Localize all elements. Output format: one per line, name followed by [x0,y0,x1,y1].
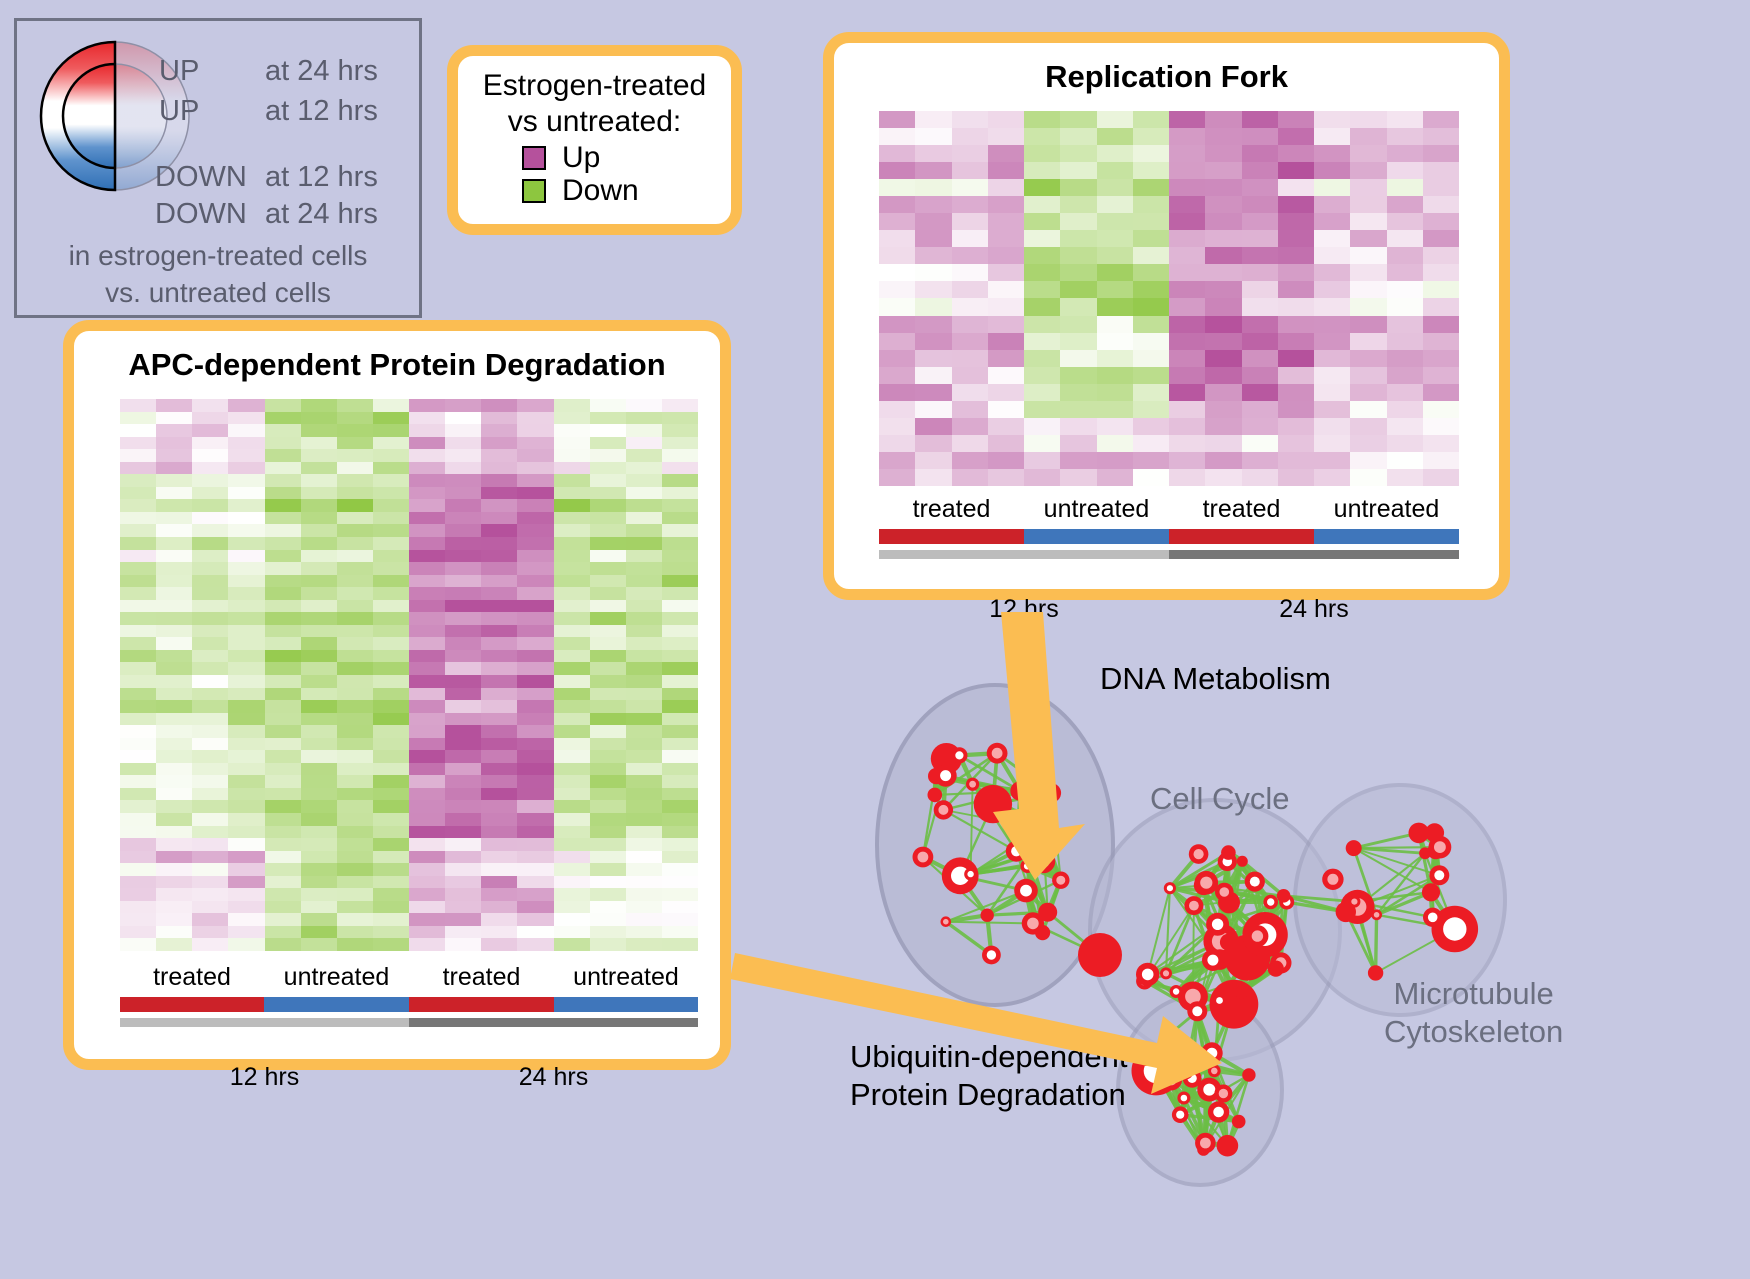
cluster-label-cell-cycle: Cell Cycle [1150,780,1290,818]
key-time-2: at 12 hrs [265,161,378,194]
apc-heatmap [120,399,698,951]
apc-title: APC-dependent Protein Degradation [74,347,720,383]
apc-group-label-3: untreated [554,963,698,992]
time-bar-seg-24h [1169,550,1459,559]
key-time-0: at 24 hrs [265,55,378,88]
replication-fork-heatmap [879,111,1459,486]
legend-swatch-up [522,146,546,170]
panel-apc-degradation: APC-dependent Protein Degradation treate… [63,320,731,1070]
replication-fork-time-bar [879,550,1459,559]
legend-title-line-1: Estrogen-treated [458,68,731,104]
key-word-2: DOWN [155,161,247,194]
apc-group-labels: treated untreated treated untreated [120,963,698,993]
cluster-label-microtubule: Microtubule Cytoskeleton [1384,975,1563,1051]
apc-time-label-12h: 12 hrs [120,1063,409,1092]
legend-item-up: Up [522,143,731,173]
key-time-3: at 24 hrs [265,198,378,231]
enrichment-network: DNA Metabolism Cell Cycle Microtubule Cy… [800,600,1750,1279]
legend-label-up: Up [562,143,600,173]
legend-label-down: Down [562,176,639,206]
treatment-bar-seg-2 [1169,529,1314,544]
treatment-bar-seg-0 [879,529,1024,544]
apc-group-label-1: untreated [264,963,409,992]
replication-fork-treatment-bar [879,529,1459,544]
apc-time-labels: 12 hrs 24 hrs [120,1063,698,1093]
color-key-box: UP at 24 hrs UP at 12 hrs DOWN at 12 hrs… [14,18,422,318]
cluster-label-dna-metabolism: DNA Metabolism [1100,660,1331,698]
apc-treatment-bar-seg-1 [264,997,409,1012]
apc-treatment-bar [120,997,698,1012]
treatment-bar-seg-3 [1314,529,1459,544]
treatment-bar-seg-1 [1024,529,1169,544]
key-time-1: at 12 hrs [265,95,378,128]
expression-legend-panel: Estrogen-treated vs untreated: Up Down [447,45,742,235]
key-word-0: UP [159,55,199,88]
group-label-2: treated [1169,495,1314,524]
group-label-1: untreated [1024,495,1169,524]
legend-swatch-down [522,179,546,203]
apc-time-bar [120,1018,698,1027]
apc-treatment-bar-seg-0 [120,997,264,1012]
cluster-label-ubiquitin: Ubiquitin-dependent Protein Degradation [850,1038,1128,1114]
legend-item-down: Down [522,176,731,206]
group-label-3: untreated [1314,495,1459,524]
apc-time-bar-seg-12h [120,1018,409,1027]
apc-treatment-bar-seg-2 [409,997,554,1012]
legend-title-line-2: vs untreated: [458,104,731,140]
apc-time-bar-seg-24h [409,1018,698,1027]
panel-replication-fork: Replication Fork treated untreated treat… [823,32,1510,600]
key-word-1: UP [159,95,199,128]
time-bar-seg-12h [879,550,1169,559]
figure-root: UP at 24 hrs UP at 12 hrs DOWN at 12 hrs… [0,0,1750,1279]
replication-fork-title: Replication Fork [834,59,1499,95]
key-footer-line-1: in estrogen-treated cells [17,237,419,274]
apc-group-label-0: treated [120,963,264,992]
apc-treatment-bar-seg-3 [554,997,698,1012]
network-svg [800,600,1750,1279]
key-footer-line-2: vs. untreated cells [17,274,419,311]
group-label-0: treated [879,495,1024,524]
replication-fork-group-labels: treated untreated treated untreated [879,495,1459,525]
apc-group-label-2: treated [409,963,554,992]
apc-time-label-24h: 24 hrs [409,1063,698,1092]
key-word-3: DOWN [155,198,247,231]
